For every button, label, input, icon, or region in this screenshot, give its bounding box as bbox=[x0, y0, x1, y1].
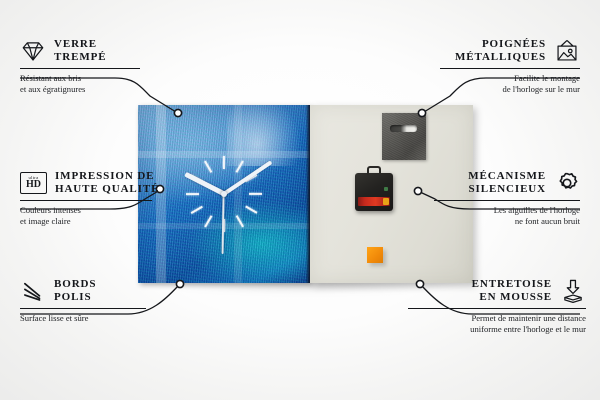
mechanism-hanger-loop bbox=[367, 166, 381, 175]
feature-title: ENTRETOISE EN MOUSSE bbox=[472, 278, 552, 305]
feature-subtitle: Résistant aux bris et aux égratignures bbox=[20, 73, 168, 96]
feature-subtitle: Les aiguilles de l'horloge ne font aucun… bbox=[416, 205, 580, 228]
picture-hanger-icon bbox=[554, 38, 580, 64]
feature-poignees-metalliques: POIGNÉES MÉTALLIQUES Facilite le montage… bbox=[420, 38, 580, 96]
feature-impression-haute-qualite: ultra HD IMPRESSION DE HAUTE QUALITÉ Cou… bbox=[20, 170, 180, 228]
feature-title: IMPRESSION DE HAUTE QUALITÉ bbox=[55, 170, 159, 197]
feature-subtitle: Facilite le montage de l'horloge sur le … bbox=[420, 73, 580, 96]
feature-title: BORDS POLIS bbox=[54, 278, 96, 305]
subtitle-line: Les aiguilles de l'horloge bbox=[416, 205, 580, 216]
mechanism-indicator bbox=[384, 187, 388, 191]
title-line: EN MOUSSE bbox=[472, 291, 552, 304]
hanger-keyhole-slot bbox=[390, 125, 417, 132]
title-line: MÉTALLIQUES bbox=[455, 51, 546, 64]
title-line: MÉCANISME bbox=[468, 170, 546, 183]
subtitle-line: et image claire bbox=[20, 216, 180, 227]
feature-divider bbox=[20, 200, 152, 201]
feature-entretoise-en-mousse: ENTRETOISE EN MOUSSE Permet de maintenir… bbox=[408, 278, 586, 336]
metal-hanger-plate bbox=[382, 113, 426, 160]
subtitle-line: ne font aucun bruit bbox=[416, 216, 580, 227]
foam-spacer-arrow-icon bbox=[560, 278, 586, 304]
title-line: POIGNÉES bbox=[455, 38, 546, 51]
title-line: VERRE bbox=[54, 38, 106, 51]
feature-head: ENTRETOISE EN MOUSSE bbox=[408, 278, 586, 305]
subtitle-line: de l'horloge sur le mur bbox=[420, 84, 580, 95]
title-line: TREMPÉ bbox=[54, 51, 106, 64]
subtitle-line: et aux égratignures bbox=[20, 84, 168, 95]
feature-divider bbox=[20, 68, 140, 69]
feature-divider bbox=[20, 308, 146, 309]
feature-bords-polis: BORDS POLIS Surface lisse et sûre bbox=[20, 278, 168, 324]
feature-mecanisme-silencieux: MÉCANISME SILENCIEUX Les aiguilles de l'… bbox=[416, 170, 580, 228]
subtitle-line: Surface lisse et sûre bbox=[20, 313, 168, 324]
title-line: POLIS bbox=[54, 291, 96, 304]
subtitle-line: Facilite le montage bbox=[420, 73, 580, 84]
subtitle-line: uniforme entre l'horloge et le mur bbox=[408, 324, 586, 335]
title-line: HAUTE QUALITÉ bbox=[55, 183, 159, 196]
feature-divider bbox=[440, 68, 580, 69]
feature-divider bbox=[434, 200, 580, 201]
feature-title: POIGNÉES MÉTALLIQUES bbox=[455, 38, 546, 65]
feature-divider bbox=[408, 308, 586, 309]
feature-head: ultra HD IMPRESSION DE HAUTE QUALITÉ bbox=[20, 170, 180, 197]
title-line: IMPRESSION DE bbox=[55, 170, 159, 183]
subtitle-line: Couleurs intenses bbox=[20, 205, 180, 216]
diamond-icon bbox=[20, 38, 46, 64]
feature-verre-trempe: VERRE TREMPÉ Résistant aux bris et aux é… bbox=[20, 38, 168, 96]
hands-center-cap bbox=[221, 191, 227, 197]
feature-head: POIGNÉES MÉTALLIQUES bbox=[420, 38, 580, 65]
clock-mechanism bbox=[355, 173, 393, 211]
subtitle-line: Permet de maintenir une distance bbox=[408, 313, 586, 324]
diagonal-lines-icon bbox=[20, 278, 46, 304]
feature-subtitle: Couleurs intenses et image claire bbox=[20, 205, 180, 228]
ultra-hd-badge-icon: ultra HD bbox=[20, 172, 47, 194]
badge-big-text: HD bbox=[26, 180, 41, 191]
title-line: BORDS bbox=[54, 278, 96, 291]
feature-title: VERRE TREMPÉ bbox=[54, 38, 106, 65]
feature-subtitle: Surface lisse et sûre bbox=[20, 313, 168, 324]
feature-head: VERRE TREMPÉ bbox=[20, 38, 168, 65]
orange-foam-spacer bbox=[367, 247, 383, 263]
feature-head: BORDS POLIS bbox=[20, 278, 168, 305]
gear-icon bbox=[554, 170, 580, 196]
feature-title: MÉCANISME SILENCIEUX bbox=[468, 170, 546, 197]
feature-head: MÉCANISME SILENCIEUX bbox=[416, 170, 580, 197]
title-line: ENTRETOISE bbox=[472, 278, 552, 291]
aa-battery bbox=[358, 197, 390, 206]
feature-subtitle: Permet de maintenir une distance uniform… bbox=[408, 313, 586, 336]
title-line: SILENCIEUX bbox=[468, 183, 546, 196]
infographic-canvas: VERRE TREMPÉ Résistant aux bris et aux é… bbox=[0, 0, 600, 400]
subtitle-line: Résistant aux bris bbox=[20, 73, 168, 84]
